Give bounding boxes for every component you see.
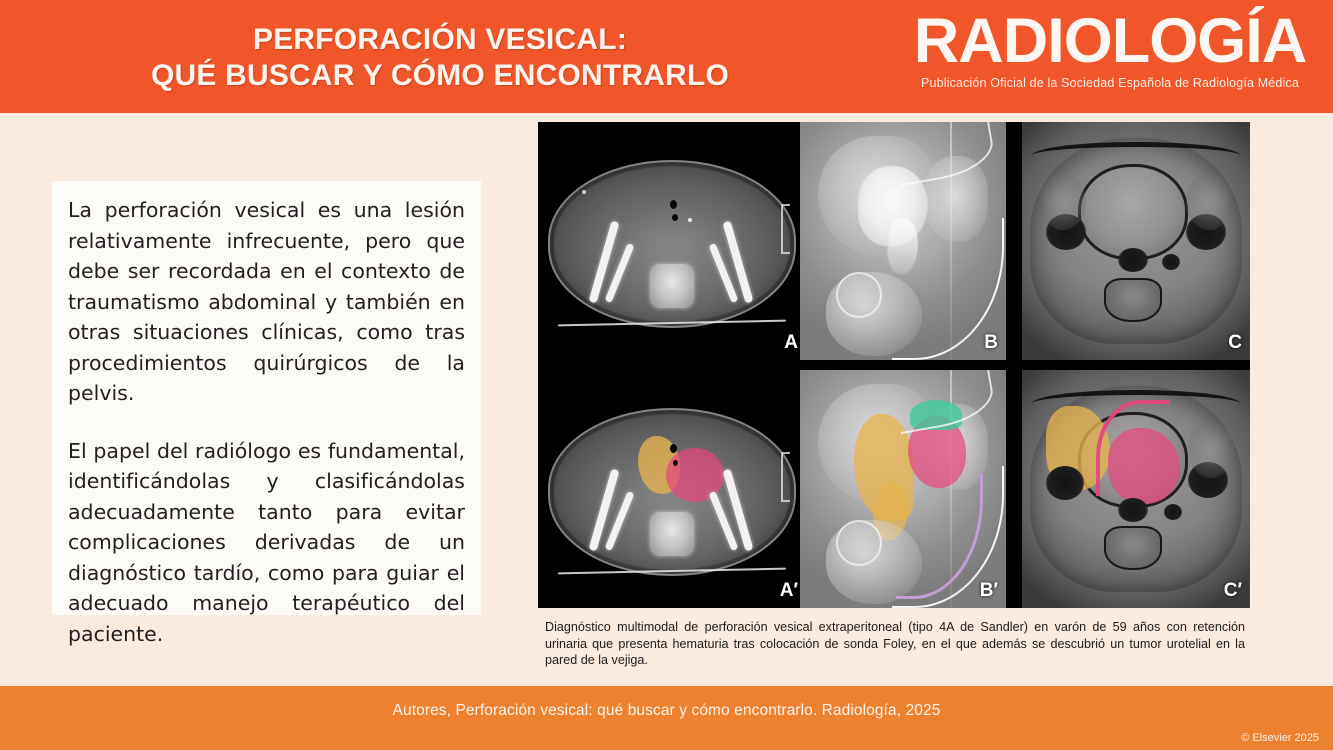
page-title-line-2: QUÉ BUSCAR Y CÓMO ENCONTRARLO bbox=[0, 58, 880, 94]
page-footer: Autores, Perforación vesical: qué buscar… bbox=[0, 686, 1333, 750]
figure-label-c: C bbox=[1228, 332, 1242, 354]
figure-image-a[interactable]: A bbox=[538, 122, 806, 360]
mri-axial-scan bbox=[1022, 122, 1250, 360]
figure-image-c-prime[interactable]: C′ bbox=[1022, 370, 1250, 608]
page-header: PERFORACIÓN VESICAL: QUÉ BUSCAR Y CÓMO E… bbox=[0, 0, 1333, 113]
summary-paragraph-2: El papel del radiólogo es fundamental, i… bbox=[68, 436, 465, 650]
logo-wordmark: RADIOLOGÍA bbox=[895, 8, 1325, 74]
summary-paragraph-1: La perforación vesical es una lesión rel… bbox=[68, 195, 465, 409]
xray-cystogram-scan bbox=[800, 122, 1006, 360]
figure-label-b-prime: B′ bbox=[980, 580, 998, 602]
figure-label-b: B bbox=[984, 332, 998, 354]
figure-label-a-prime: A′ bbox=[780, 580, 798, 602]
figure-image-a-prime[interactable]: A′ bbox=[538, 370, 806, 608]
page-title: PERFORACIÓN VESICAL: QUÉ BUSCAR Y CÓMO E… bbox=[0, 22, 880, 94]
figure-caption: Diagnóstico multimodal de perforación ve… bbox=[545, 619, 1245, 669]
figure-label-a: A bbox=[784, 332, 798, 354]
figure-row-bottom: A′ B′ bbox=[538, 370, 1250, 608]
summary-text-card: La perforación vesical es una lesión rel… bbox=[52, 181, 481, 615]
figure-image-b[interactable]: B bbox=[800, 122, 1006, 360]
figure-image-c[interactable]: C bbox=[1022, 122, 1250, 360]
figure-row-top: A B bbox=[538, 122, 1250, 360]
radiologia-logo: RADIOLOGÍA Publicación Oficial de la Soc… bbox=[895, 8, 1325, 91]
figure-image-b-prime[interactable]: B′ bbox=[800, 370, 1006, 608]
footer-copyright: © Elsevier 2025 bbox=[1241, 732, 1319, 744]
figure-panel: A B bbox=[538, 122, 1250, 608]
logo-subtitle: Publicación Oficial de la Sociedad Españ… bbox=[895, 75, 1325, 91]
ct-axial-scan-annotated bbox=[538, 370, 806, 608]
figure-label-c-prime: C′ bbox=[1224, 580, 1242, 602]
xray-cystogram-scan-annotated bbox=[800, 370, 1006, 608]
ct-axial-scan bbox=[538, 122, 806, 360]
page-title-line-1: PERFORACIÓN VESICAL: bbox=[253, 23, 627, 56]
mri-axial-scan-annotated bbox=[1022, 370, 1250, 608]
footer-citation: Autores, Perforación vesical: qué buscar… bbox=[0, 702, 1333, 720]
